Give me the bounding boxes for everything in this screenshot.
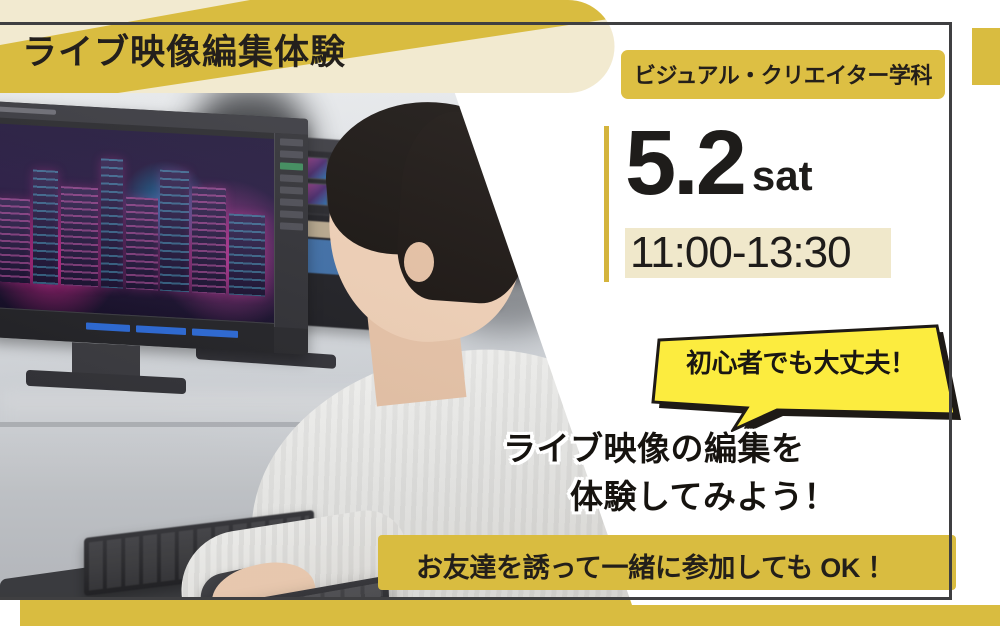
- monitor1-preview-canvas: [0, 123, 274, 323]
- catch-copy-line-2: 体験してみよう！: [570, 470, 837, 518]
- date-accent-rule: [604, 126, 609, 282]
- event-banner: ライブ映像編集体験 ビジュアル・クリエイター学科 5.2 sat 11:00-1…: [0, 0, 1000, 626]
- bottom-note-text: お友達を誘って一緒に参加しても OK ！: [416, 546, 894, 585]
- monitor-video-preview: [0, 101, 308, 355]
- gold-accent-bar-right: [972, 28, 1000, 626]
- gold-accent-bar-bottom: [20, 600, 1000, 626]
- page-title: ライブ映像編集体験: [22, 24, 346, 75]
- catch-copy-line-1: ライブ映像の編集を: [503, 422, 805, 470]
- date-day-of-week: sat: [752, 155, 813, 197]
- monitor1-base: [26, 370, 186, 394]
- event-time: 11:00-13:30: [630, 230, 851, 276]
- monitor1-side-panel: [274, 133, 308, 329]
- event-date: 5.2 sat: [625, 124, 813, 203]
- photo-background: [0, 92, 700, 600]
- date-number: 5.2: [625, 124, 744, 203]
- speech-bubble-text: 初心者でも大丈夫！: [686, 343, 916, 380]
- student-ear: [404, 242, 434, 282]
- department-badge: ビジュアル・クリエイター学科: [621, 50, 945, 99]
- classroom-photo: [0, 92, 700, 600]
